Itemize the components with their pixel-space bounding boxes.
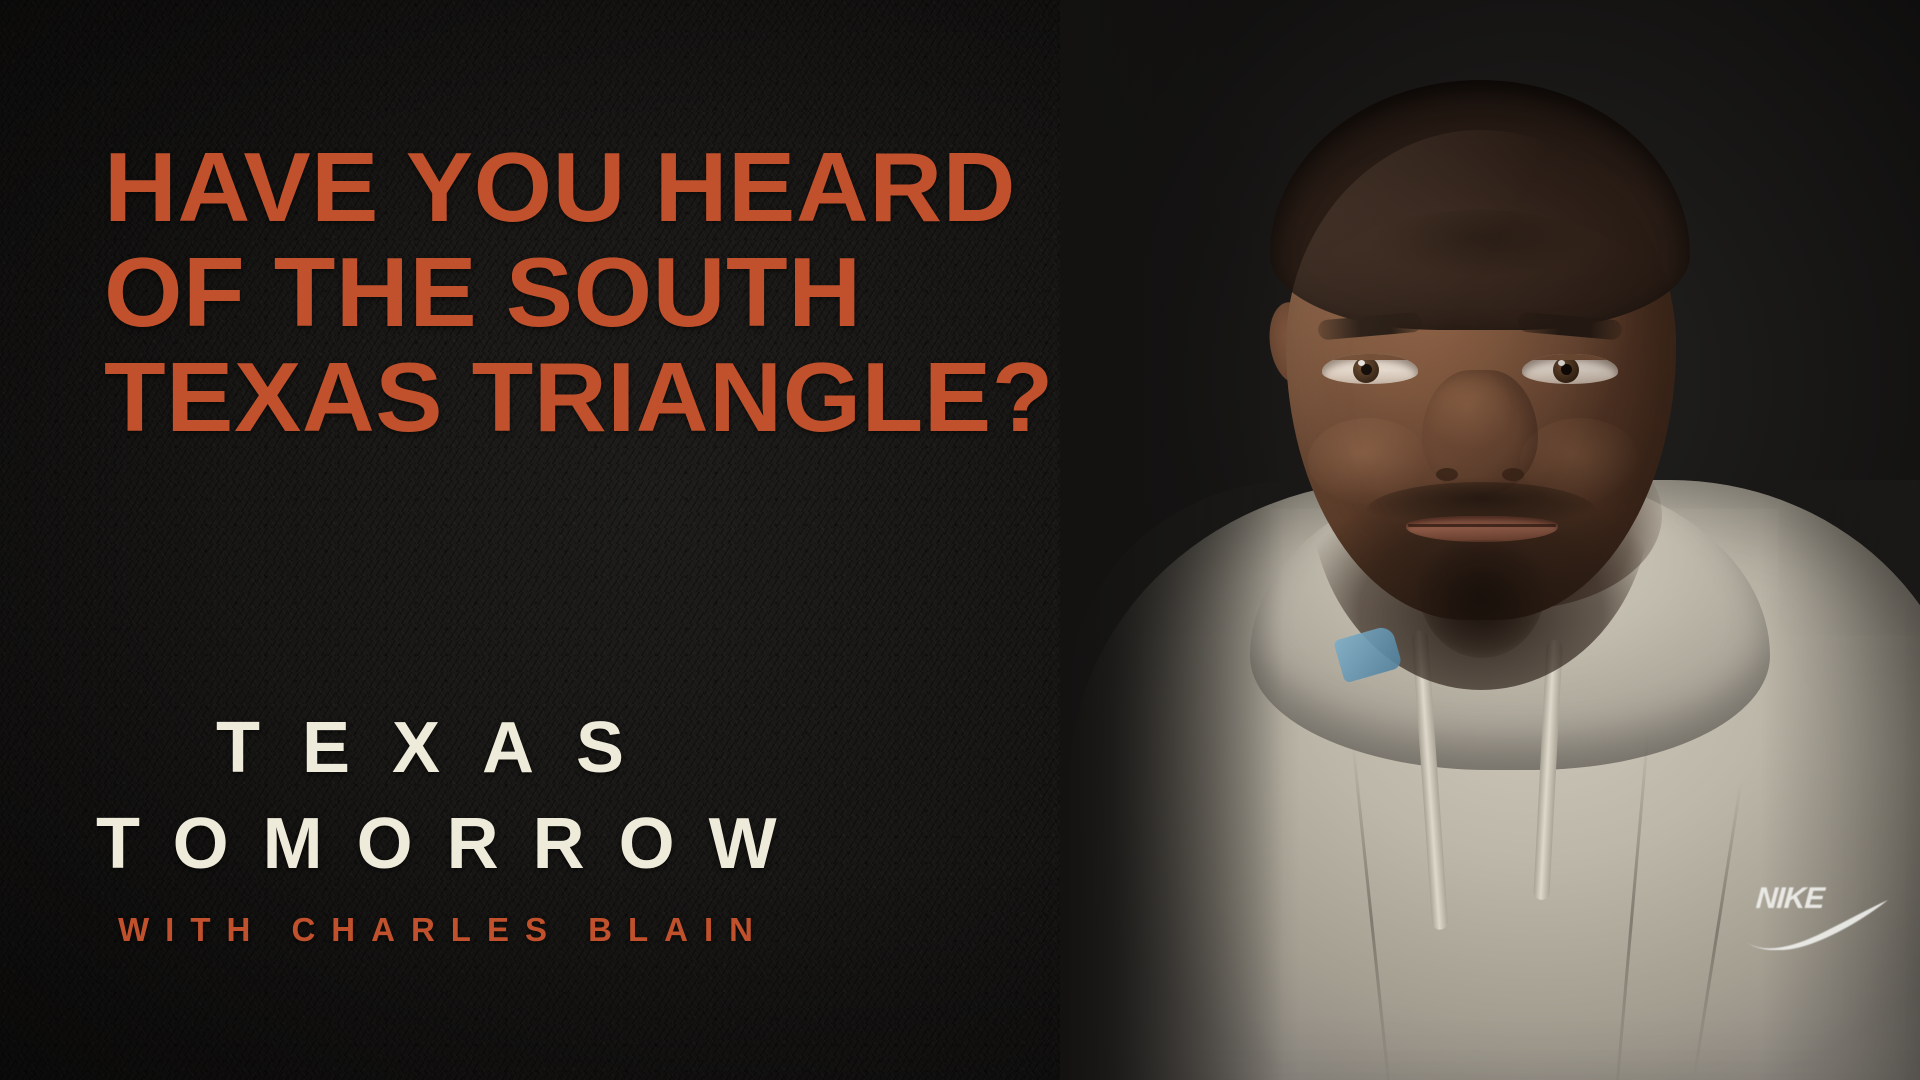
headline-line-3: TEXAS TRIANGLE?	[104, 345, 1268, 450]
logo-line-tomorrow: TOMORROW	[96, 796, 811, 892]
host-byline: WITH CHARLES BLAIN	[96, 910, 811, 950]
show-logo: TEXAS TOMORROW WITH CHARLES BLAIN	[96, 700, 811, 950]
headline: HAVE YOU HEARD OF THE SOUTH TEXAS TRIANG…	[104, 135, 1234, 450]
title-card: NIKE	[0, 0, 1920, 1080]
headline-line-2: OF THE SOUTH	[104, 240, 1268, 345]
headline-line-1: HAVE YOU HEARD	[104, 135, 1268, 240]
logo-line-texas: TEXAS	[96, 700, 811, 796]
